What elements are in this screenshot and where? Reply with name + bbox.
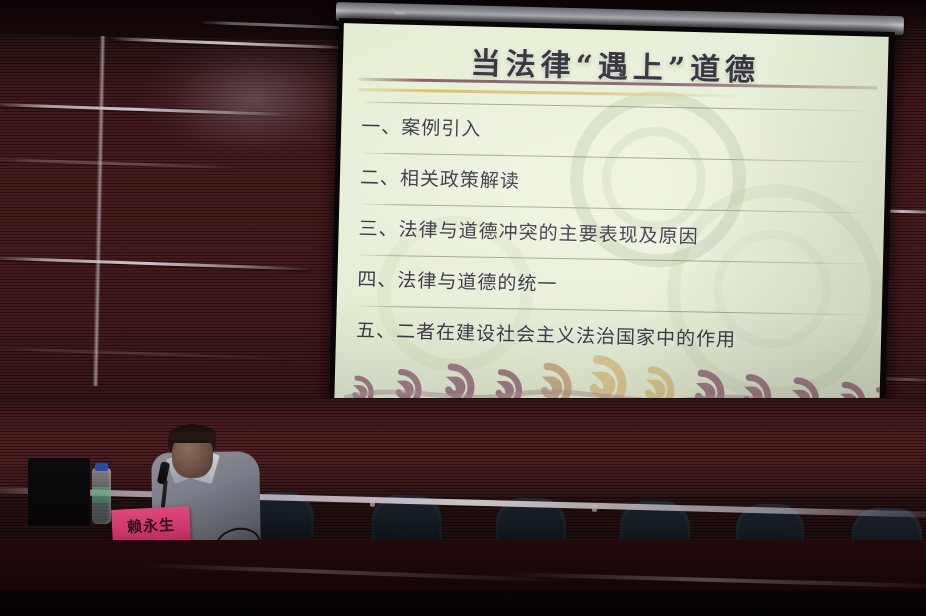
- nameplate-text: 赖永生: [126, 513, 175, 536]
- roller-tab: [394, 11, 405, 14]
- list-item-marker: 四、: [357, 265, 398, 293]
- list-item-marker: 一、: [361, 112, 402, 140]
- list-item-separator: [364, 102, 867, 112]
- slide-outline-list: 一、 案例引入 二、 相关政策解读 三、 法律与道德冲突的主要表现及原因 四、 …: [355, 100, 872, 368]
- list-item-marker: 二、: [360, 163, 401, 191]
- dark-monitor-box: [28, 458, 90, 526]
- list-item-marker: 五、: [356, 316, 397, 344]
- list-item-label: 相关政策解读: [400, 164, 521, 194]
- projection-screen: 当法律“遇上”道德 一、 案例引入 二、 相关政策解读 三、: [329, 18, 895, 422]
- list-item-label: 法律与道德的统一: [397, 266, 558, 297]
- list-item-label: 法律与道德冲突的主要表现及原因: [398, 215, 699, 250]
- floor-shadow: [0, 590, 926, 616]
- ceiling-band-left: [0, 0, 340, 41]
- bottle-cap: [95, 463, 108, 471]
- speaker-hair-top: [169, 425, 216, 443]
- nameplate: 赖永生: [111, 506, 191, 544]
- presentation-slide: 当法律“遇上”道德 一、 案例引入 二、 相关政策解读 三、: [334, 23, 888, 416]
- bottle-label: [92, 487, 111, 503]
- table-knob: [370, 500, 375, 507]
- screenshot-root: 当法律“遇上”道德 一、 案例引入 二、 相关政策解读 三、: [0, 0, 926, 616]
- table-knob: [592, 505, 597, 512]
- list-item-marker: 三、: [358, 214, 399, 242]
- title-rule-gold: [358, 88, 737, 97]
- list-item-label: 案例引入: [401, 113, 482, 142]
